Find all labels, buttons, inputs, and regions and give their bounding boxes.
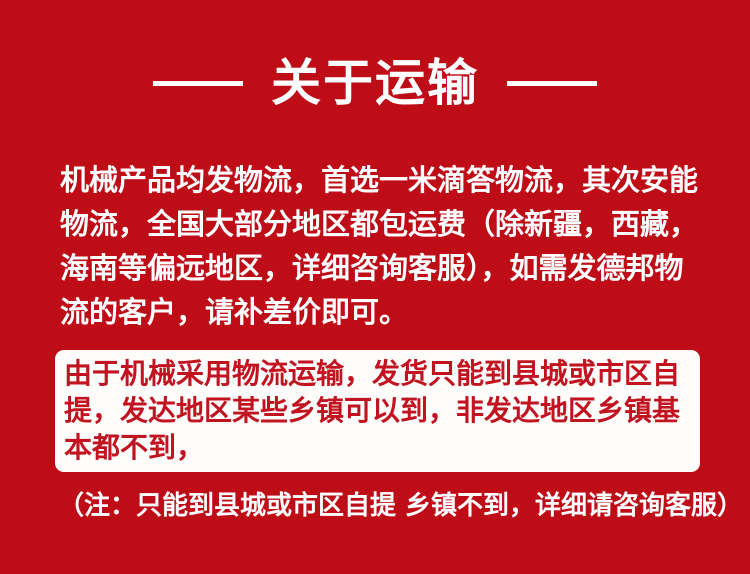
callout-line: 本都不到， [64,429,692,466]
page-title: 关于运输 [271,53,479,113]
intro-line: 海南等偏远地区，详细咨询客服），如需发德邦物 [60,246,702,290]
intro-line: 机械产品均发物流，首选一米滴答物流，其次安能 [60,158,702,202]
callout-line: 提，发达地区某些乡镇可以到，非发达地区乡镇基 [64,392,692,429]
shipping-limitation-callout: 由于机械采用物流运输，发货只能到县城或市区自 提，发达地区某些乡镇可以到，非发达… [55,350,700,472]
intro-line: 物流，全国大部分地区都包运费（除新疆，西藏， [60,202,702,246]
banner-header: 关于运输 [0,48,750,118]
footer-note: （注：只能到县城或市区自提 乡镇不到，详细请咨询客服） [58,488,708,524]
shipping-info-banner: 关于运输 机械产品均发物流，首选一米滴答物流，其次安能 物流，全国大部分地区都包… [0,0,750,574]
intro-line: 流的客户，请补差价即可。 [60,290,702,334]
title-rule-left-icon [153,81,243,86]
title-rule-right-icon [507,81,597,86]
callout-line: 由于机械采用物流运输，发货只能到县城或市区自 [64,355,692,392]
intro-paragraph: 机械产品均发物流，首选一米滴答物流，其次安能 物流，全国大部分地区都包运费（除新… [60,158,702,334]
